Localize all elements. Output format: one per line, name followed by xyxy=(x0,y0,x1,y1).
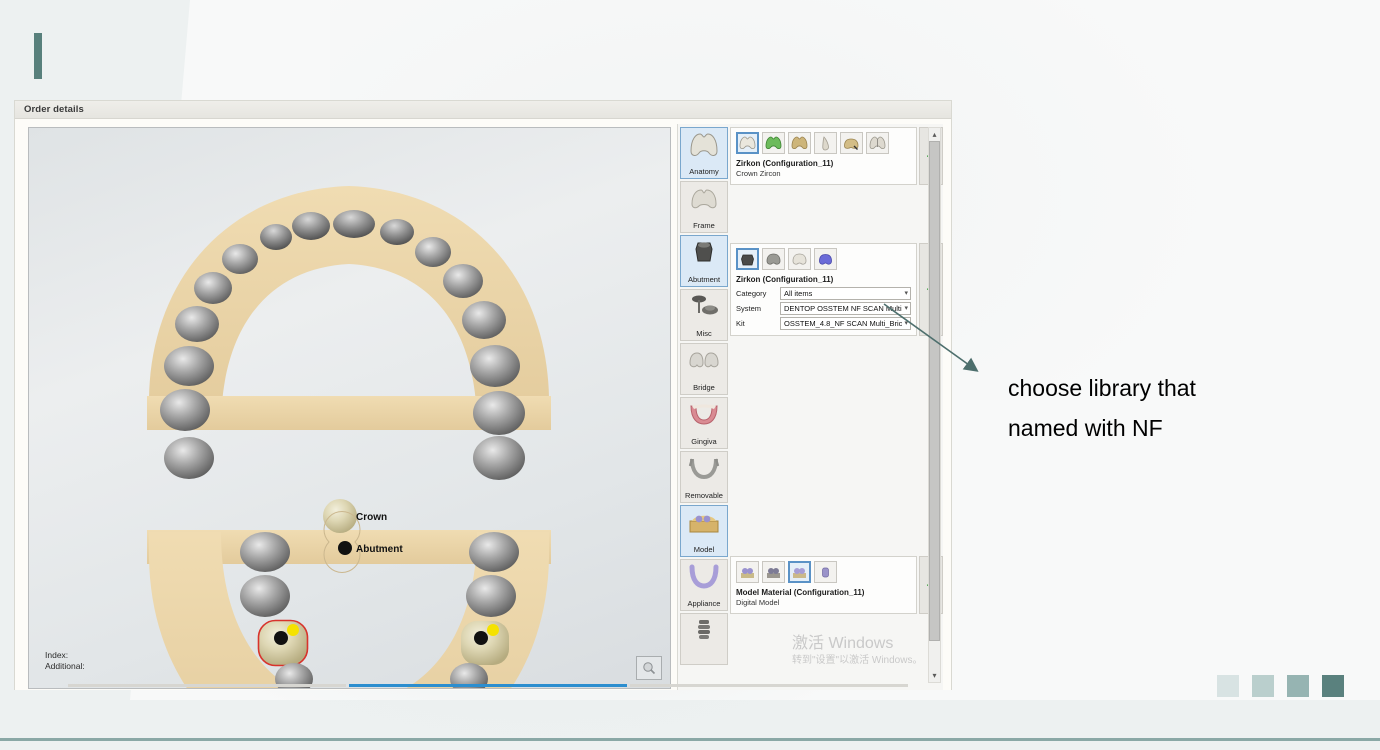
sidebar-item-anatomy[interactable]: Anatomy xyxy=(680,127,728,179)
model-card-title: Model Material (Configuration_11) xyxy=(736,587,911,598)
decor-square-1 xyxy=(1217,675,1239,697)
dental-model-icon xyxy=(681,509,727,535)
card-model: Model Material (Configuration_11) Digita… xyxy=(730,556,943,614)
removable-clasp-icon xyxy=(681,455,727,481)
card-model-body[interactable]: Model Material (Configuration_11) Digita… xyxy=(730,556,917,614)
swatch-coping-cone[interactable] xyxy=(814,132,837,154)
sidebar-label-frame: Frame xyxy=(693,221,715,230)
chart-info-block: Index: Additional: xyxy=(45,650,85,672)
swatch-abutment-dark[interactable] xyxy=(736,248,759,270)
field-row-system: System DENTOP OSSTEM NF SCAN Multi ▾ xyxy=(736,302,911,315)
magnifier-icon[interactable] xyxy=(636,656,662,680)
sidebar-item-screw[interactable] xyxy=(680,613,728,665)
scrollbar-thumb[interactable] xyxy=(929,141,940,641)
model-swatch-row xyxy=(736,561,911,583)
element-panel: Anatomy Frame Abutment xyxy=(677,124,943,690)
additional-label: Additional: xyxy=(45,661,85,672)
sidebar-item-frame[interactable]: Frame xyxy=(680,181,728,233)
swatch-abutment-gray[interactable] xyxy=(762,248,785,270)
swatch-abutment-purple[interactable] xyxy=(814,248,837,270)
swatch-model-c[interactable] xyxy=(788,561,811,583)
anatomy-card-title: Zirkon (Configuration_11) xyxy=(736,158,911,169)
content-column: Zirkon (Configuration_11) Crown Zircon + xyxy=(730,124,943,690)
chevron-down-icon: ▾ xyxy=(904,290,908,297)
gingiva-arch-icon xyxy=(681,401,727,427)
field-row-category: Category All items ▾ xyxy=(736,287,911,300)
swatch-crown-white[interactable] xyxy=(736,132,759,154)
chevron-down-icon: ▾ xyxy=(904,305,908,312)
upper-band-tooth-left xyxy=(164,437,214,479)
panel-scrollbar[interactable]: ▴ ▾ xyxy=(928,127,941,683)
sidebar-label-bridge: Bridge xyxy=(693,383,715,392)
sidebar-item-bridge[interactable]: Bridge xyxy=(680,343,728,395)
swatch-model-a[interactable] xyxy=(736,561,759,583)
sidebar-label-gingiva: Gingiva xyxy=(691,437,716,446)
decor-square-2 xyxy=(1252,675,1274,697)
index-label: Index: xyxy=(45,650,85,661)
category-rail: Anatomy Frame Abutment xyxy=(678,124,730,690)
swatch-crown-inlay-gold[interactable] xyxy=(840,132,863,154)
abutment-swatch-row xyxy=(736,248,911,270)
model-card-subtitle: Digital Model xyxy=(736,598,911,608)
magnifier-glyph xyxy=(642,661,656,675)
swatch-model-b[interactable] xyxy=(762,561,785,583)
crown-tooth-icon xyxy=(681,131,727,159)
legend-abutment-dot xyxy=(338,541,352,555)
decorative-squares xyxy=(1217,675,1344,697)
sidebar-label-abutment: Abutment xyxy=(688,275,720,284)
upper-band-tooth-right xyxy=(473,436,525,480)
sidebar-item-misc[interactable]: Misc xyxy=(680,289,728,341)
swatch-crown-green[interactable] xyxy=(762,132,785,154)
label-kit: Kit xyxy=(736,319,780,328)
annotation-text: choose library that named with NF xyxy=(1008,368,1338,448)
value-kit: OSSTEM_4.8_NF SCAN Multi_Bric xyxy=(784,319,902,328)
sidebar-item-model[interactable]: Model xyxy=(680,505,728,557)
sidebar-item-removable[interactable]: Removable xyxy=(680,451,728,503)
bridge-teeth-icon xyxy=(681,347,727,373)
tooth-chart-svg: Crown Abutment xyxy=(29,128,670,688)
anatomy-swatch-row xyxy=(736,132,911,154)
card-anatomy: Zirkon (Configuration_11) Crown Zircon + xyxy=(730,127,943,185)
select-kit[interactable]: OSSTEM_4.8_NF SCAN Multi_Bric ▾ xyxy=(780,317,911,330)
misc-parts-icon xyxy=(681,293,727,321)
empty-slots-region xyxy=(730,338,943,556)
decor-square-4 xyxy=(1322,675,1344,697)
sidebar-item-gingiva[interactable]: Gingiva xyxy=(680,397,728,449)
select-system[interactable]: DENTOP OSSTEM NF SCAN Multi ▾ xyxy=(780,302,911,315)
decor-square-3 xyxy=(1287,675,1309,697)
appliance-arch-icon xyxy=(681,563,727,589)
sidebar-label-removable: Removable xyxy=(685,491,723,500)
swatch-crown-split[interactable] xyxy=(866,132,889,154)
label-system: System xyxy=(736,304,780,313)
annotation-line-1: choose library that xyxy=(1008,368,1338,408)
bottom-seg-active[interactable] xyxy=(349,684,627,687)
sidebar-item-abutment[interactable]: Abutment xyxy=(680,235,728,287)
windows-activation-watermark: 激活 Windows 转到"设置"以激活 Windows。 xyxy=(792,634,922,668)
bottom-seg-1[interactable] xyxy=(68,684,346,687)
sidebar-label-misc: Misc xyxy=(696,329,711,338)
swatch-crown-gold[interactable] xyxy=(788,132,811,154)
sidebar-item-appliance[interactable]: Appliance xyxy=(680,559,728,611)
window-body: Crown Abutment Index: Additional: xyxy=(15,119,951,690)
annotation-line-2: named with NF xyxy=(1008,408,1338,448)
swatch-abutment-white[interactable] xyxy=(788,248,811,270)
abutment-post-icon xyxy=(681,239,727,267)
field-row-kit: Kit OSSTEM_4.8_NF SCAN Multi_Bric ▾ xyxy=(736,317,911,330)
chevron-up-icon[interactable]: ▴ xyxy=(932,128,936,141)
sidebar-label-appliance: Appliance xyxy=(688,599,721,608)
sidebar-label-model: Model xyxy=(694,545,714,554)
anatomy-card-subtitle: Crown Zircon xyxy=(736,169,911,179)
watermark-line-1: 激活 Windows xyxy=(792,634,922,654)
screw-icon xyxy=(681,617,727,645)
window-titlebar: Order details xyxy=(15,101,951,119)
chevron-down-icon: ▾ xyxy=(904,320,908,327)
legend-abutment-label: Abutment xyxy=(356,544,403,555)
title-accent-bar xyxy=(34,33,42,79)
card-abutment-body[interactable]: Zirkon (Configuration_11) Category All i… xyxy=(730,243,917,336)
card-anatomy-body[interactable]: Zirkon (Configuration_11) Crown Zircon xyxy=(730,127,917,185)
bottom-seg-3[interactable] xyxy=(630,684,908,687)
bottom-tab-strip xyxy=(18,681,948,689)
select-category[interactable]: All items ▾ xyxy=(780,287,911,300)
abutment-card-title: Zirkon (Configuration_11) xyxy=(736,274,911,285)
tooth-chart-viewport[interactable]: Crown Abutment Index: Additional: xyxy=(28,127,671,689)
tooth-marker-yellow xyxy=(287,624,299,636)
card-abutment: Zirkon (Configuration_11) Category All i… xyxy=(730,243,943,336)
frame-empty-slot xyxy=(730,187,943,243)
page-title: Order details xyxy=(24,104,84,115)
framework-tooth-icon xyxy=(681,185,727,213)
label-category: Category xyxy=(736,289,780,298)
tooth-marker-black xyxy=(274,631,288,645)
legend-crown-label: Crown xyxy=(356,512,387,523)
order-details-window: Order details xyxy=(14,100,952,690)
value-category: All items xyxy=(784,289,812,298)
value-system: DENTOP OSSTEM NF SCAN Multi xyxy=(784,304,902,313)
swatch-model-d[interactable] xyxy=(814,561,837,583)
legend-crown-swatch xyxy=(323,499,357,533)
watermark-line-2: 转到"设置"以激活 Windows。 xyxy=(792,654,922,668)
sidebar-label-anatomy: Anatomy xyxy=(689,167,719,176)
